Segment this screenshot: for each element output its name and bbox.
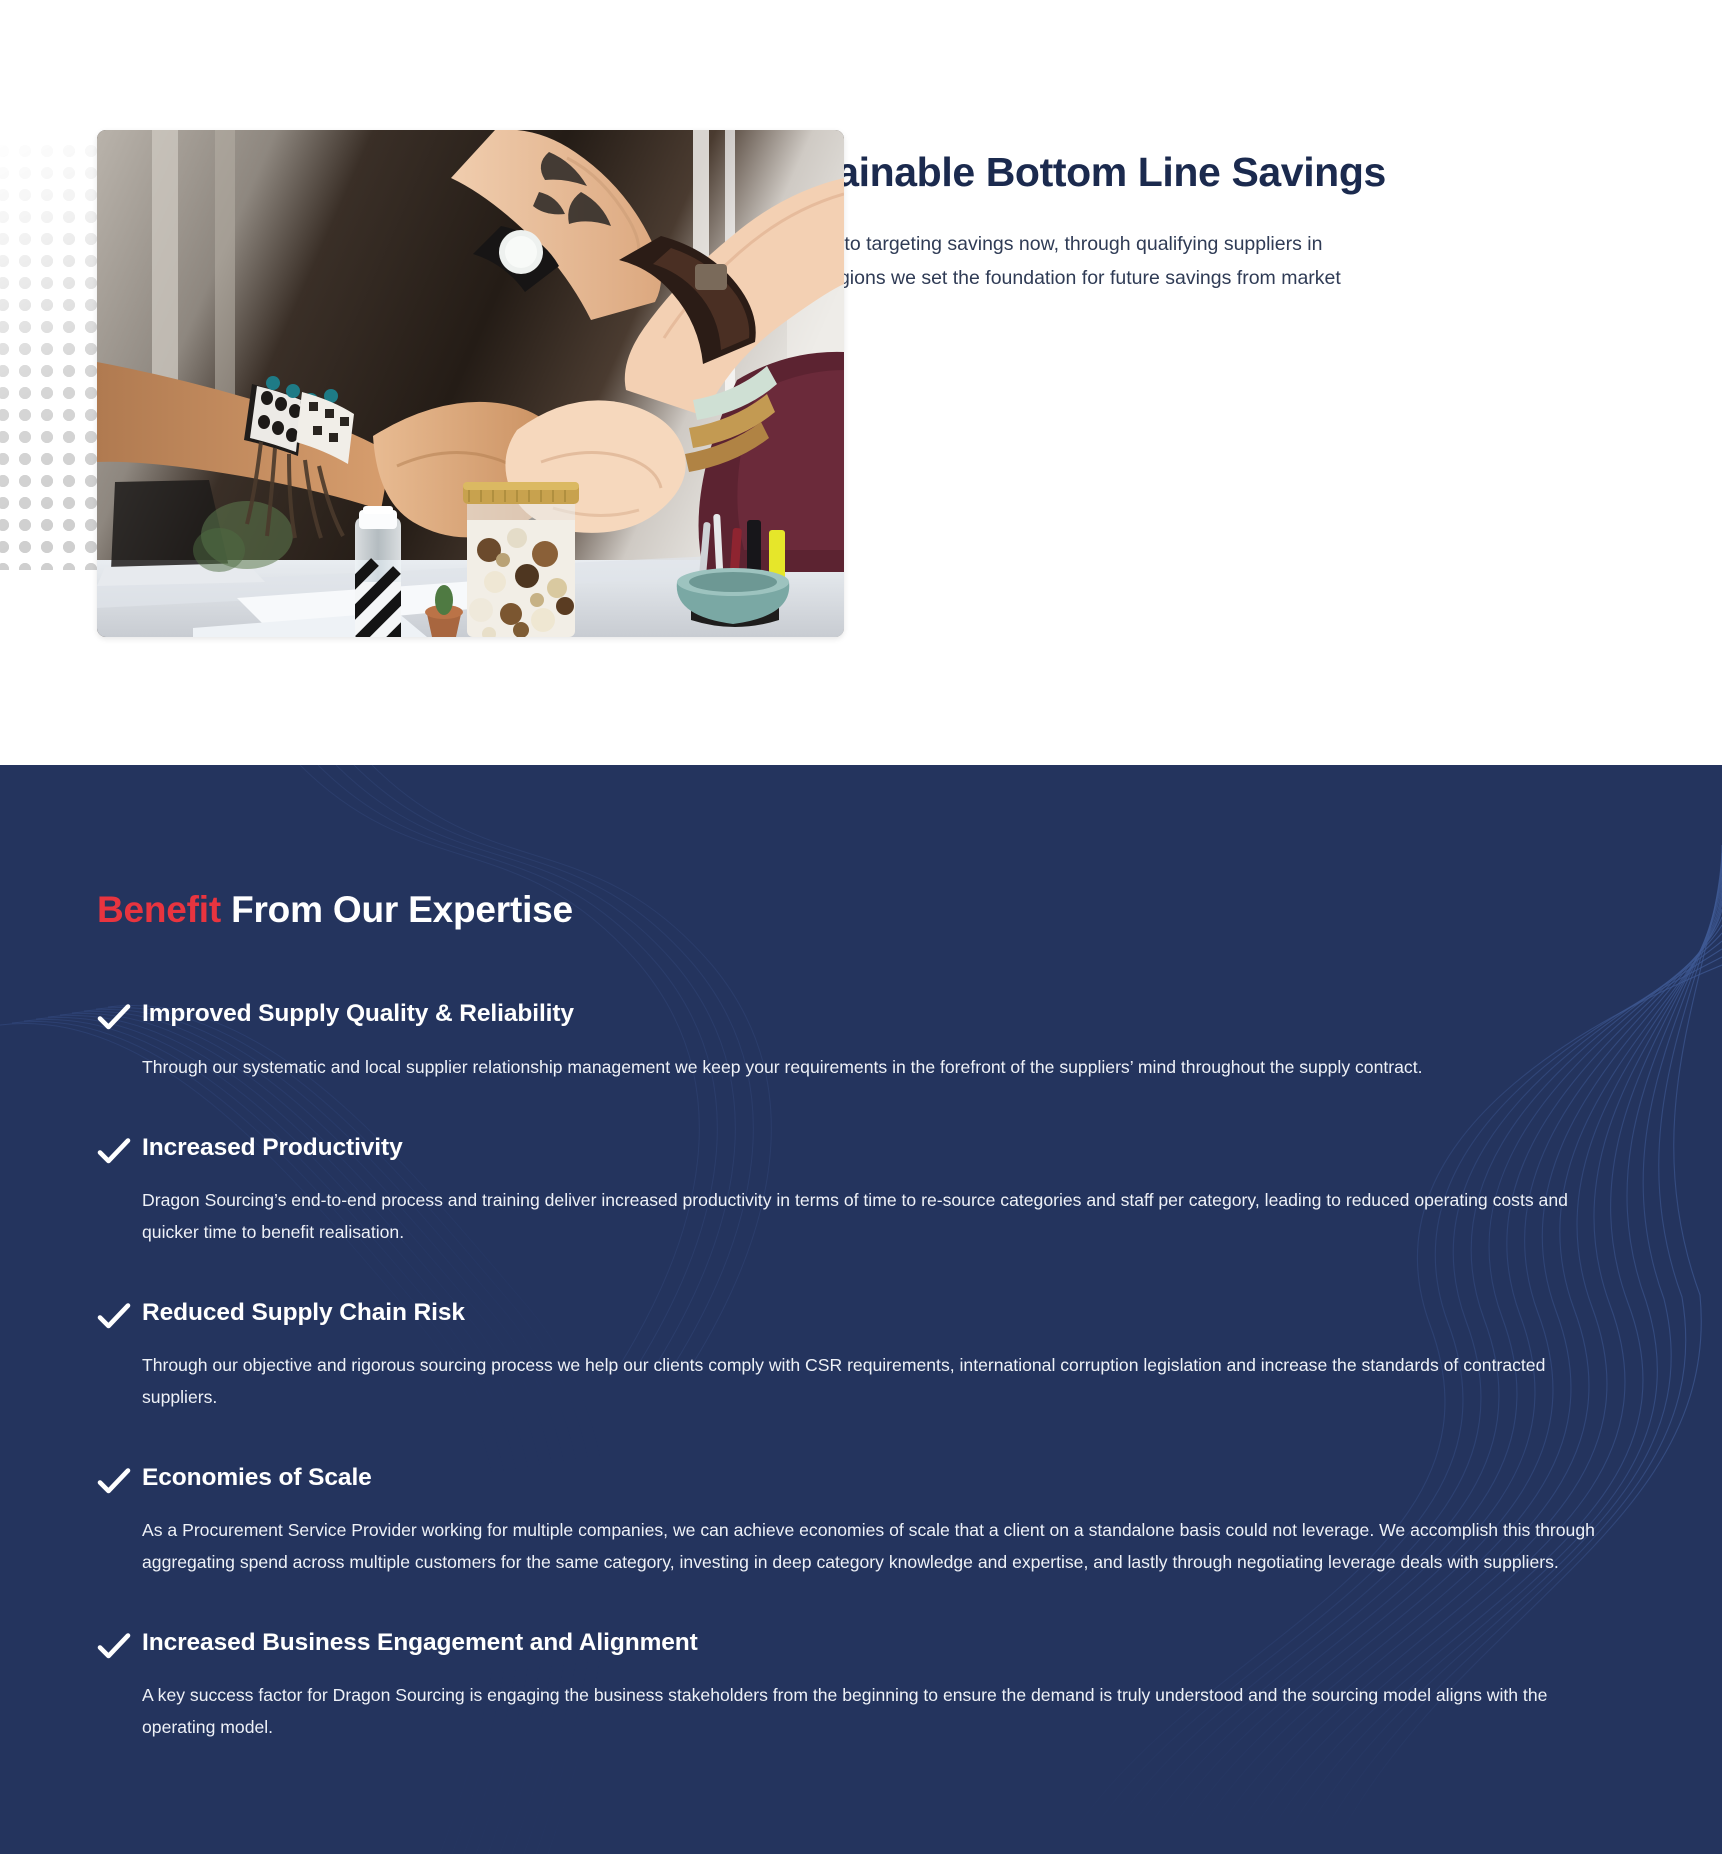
hero-text-column: Sustainable Bottom Line Savings In addit… xyxy=(749,130,1722,329)
benefit-body: Through our systematic and local supplie… xyxy=(142,1052,1602,1083)
check-icon xyxy=(97,1135,131,1169)
benefit-title: Improved Supply Quality & Reliability xyxy=(142,998,1602,1029)
list-item: Increased Business Engagement and Alignm… xyxy=(97,1627,1602,1743)
list-item: Economies of Scale As a Procurement Serv… xyxy=(97,1462,1602,1578)
hero-paragraph: In addition to targeting savings now, th… xyxy=(749,228,1386,329)
list-item: Improved Supply Quality & Reliability Th… xyxy=(97,998,1602,1083)
sustainable-savings-section: Sustainable Bottom Line Savings In addit… xyxy=(0,0,1722,765)
check-icon xyxy=(97,1465,131,1499)
benefit-body: A key success factor for Dragon Sourcing… xyxy=(142,1680,1602,1743)
benefits-title: Benefit From Our Expertise xyxy=(97,888,1602,932)
benefits-section: Benefit From Our Expertise Improved Supp… xyxy=(0,765,1722,1854)
benefit-title: Increased Productivity xyxy=(142,1132,1602,1163)
benefits-title-rest: From Our Expertise xyxy=(221,889,573,930)
sustainable-savings-content: Sustainable Bottom Line Savings In addit… xyxy=(0,0,1722,637)
benefit-title: Reduced Supply Chain Risk xyxy=(142,1297,1602,1328)
benefit-body: As a Procurement Service Provider workin… xyxy=(142,1515,1602,1578)
list-item: Reduced Supply Chain Risk Through our ob… xyxy=(97,1297,1602,1413)
check-icon xyxy=(97,1001,131,1035)
benefit-title: Economies of Scale xyxy=(142,1462,1602,1493)
benefits-list: Improved Supply Quality & Reliability Th… xyxy=(97,998,1602,1743)
benefit-title: Increased Business Engagement and Alignm… xyxy=(142,1627,1602,1658)
benefits-content: Benefit From Our Expertise Improved Supp… xyxy=(0,765,1722,1743)
team-fist-bump-photo xyxy=(97,130,844,637)
page-title: Sustainable Bottom Line Savings xyxy=(749,148,1386,196)
list-item: Increased Productivity Dragon Sourcing’s… xyxy=(97,1132,1602,1248)
benefit-body: Through our objective and rigorous sourc… xyxy=(142,1350,1602,1413)
benefit-body: Dragon Sourcing’s end-to-end process and… xyxy=(142,1185,1602,1248)
hero-image-column xyxy=(0,130,749,637)
check-icon xyxy=(97,1300,131,1334)
benefits-title-accent: Benefit xyxy=(97,889,221,930)
check-icon xyxy=(97,1630,131,1664)
